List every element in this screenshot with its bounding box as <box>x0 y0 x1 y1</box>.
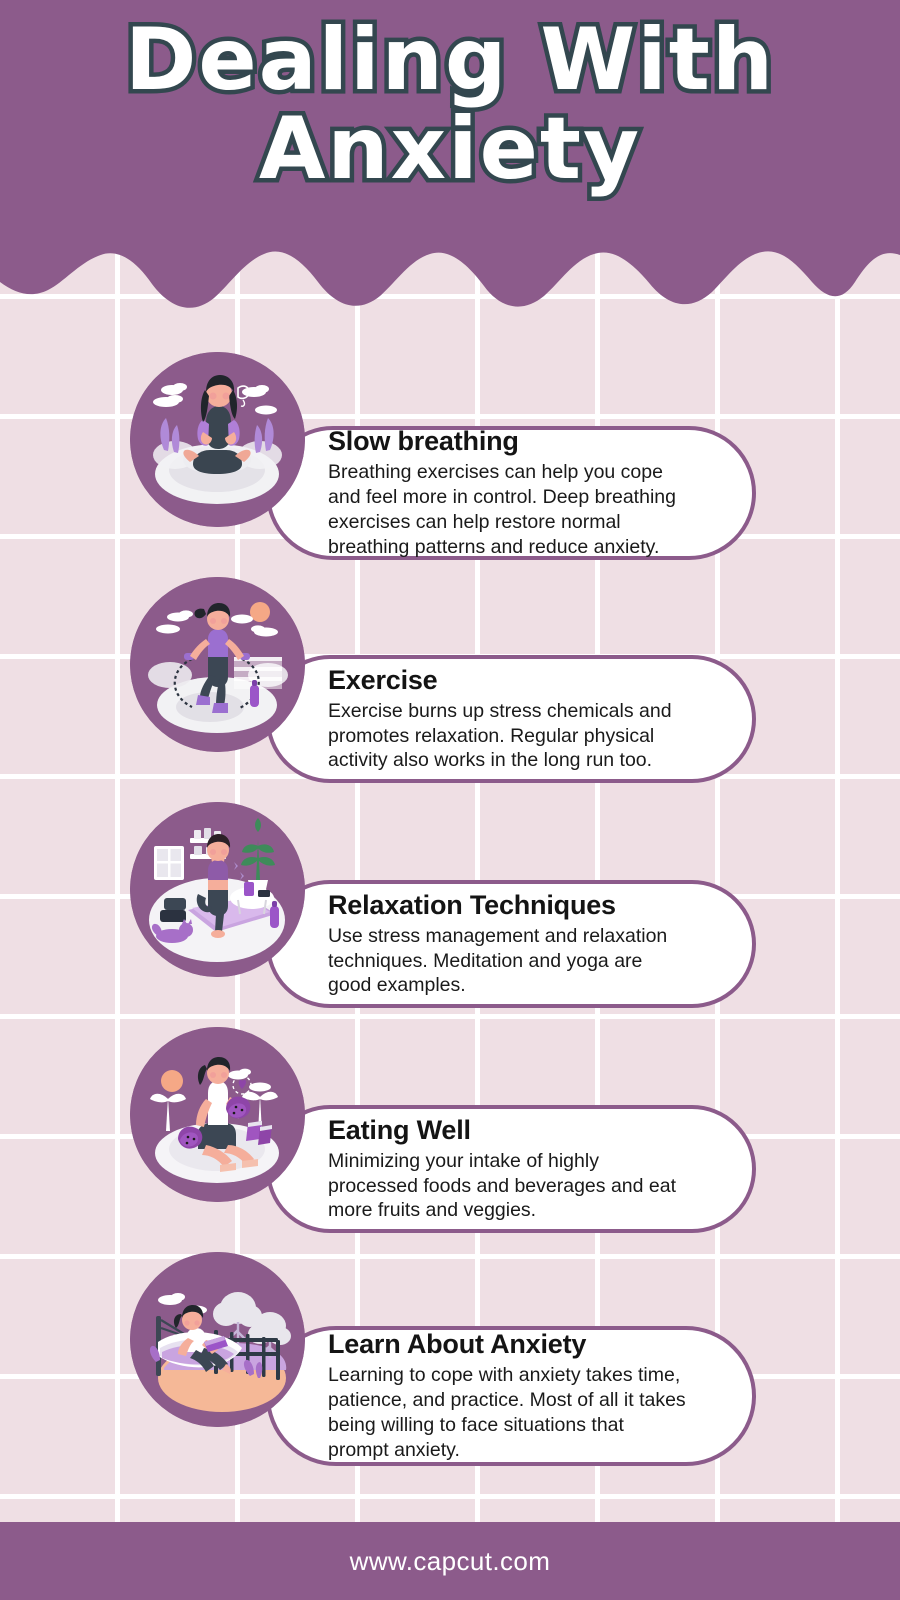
woman-jumping-rope-illustration <box>130 577 305 752</box>
tip-card[interactable]: Relaxation Techniques Use stress managem… <box>266 880 756 1008</box>
header-wave-shape <box>0 0 900 320</box>
woman-yoga-tree-pose-illustration <box>130 802 305 977</box>
woman-reading-in-hammock-illustration <box>130 1252 305 1427</box>
tip-title: Slow breathing <box>328 426 706 457</box>
tip-title: Exercise <box>328 665 706 696</box>
tip-card[interactable]: Eating Well Minimizing your intake of hi… <box>266 1105 756 1233</box>
tip-body: Learning to cope with anxiety takes time… <box>328 1363 706 1463</box>
tip-body: Exercise burns up stress chemicals and p… <box>328 699 706 774</box>
infographic-poster: Dealing With Anxiety Slow breathing Brea… <box>0 0 900 1600</box>
tip-title: Learn About Anxiety <box>328 1329 706 1360</box>
tip-body: Breathing exercises can help you cope an… <box>328 460 706 560</box>
footer-bar: www.capcut.com <box>0 1522 900 1600</box>
tip-card[interactable]: Slow breathing Breathing exercises can h… <box>266 426 756 560</box>
tip-body: Use stress management and relaxation tec… <box>328 924 706 999</box>
woman-eating-watermelon-illustration <box>130 1027 305 1202</box>
website-url[interactable]: www.capcut.com <box>350 1546 551 1577</box>
tip-card[interactable]: Exercise Exercise burns up stress chemic… <box>266 655 756 783</box>
header-banner <box>0 0 900 320</box>
tip-title: Relaxation Techniques <box>328 890 706 921</box>
woman-meditating-illustration <box>130 352 305 527</box>
tip-title: Eating Well <box>328 1115 706 1146</box>
tip-card[interactable]: Learn About Anxiety Learning to cope wit… <box>266 1326 756 1466</box>
tip-body: Minimizing your intake of highly process… <box>328 1149 706 1224</box>
